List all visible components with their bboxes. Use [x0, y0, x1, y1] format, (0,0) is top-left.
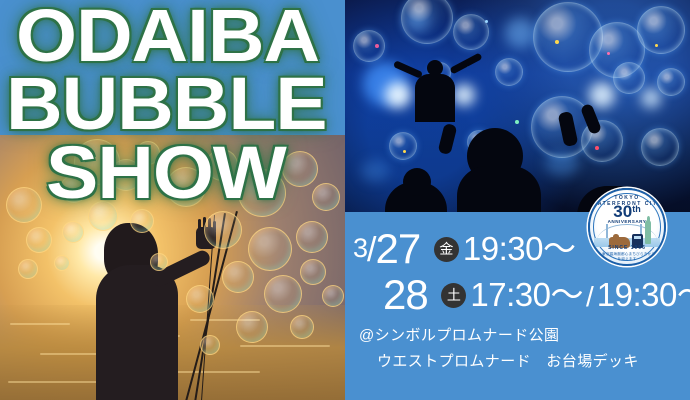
dayofweek-badge-1: 金 [434, 237, 459, 262]
venue-line-2: ウエストプロムナード お台場デッキ [359, 350, 639, 371]
dayofweek-badge-2: 土 [441, 283, 466, 308]
badge-jp-text: 令和・東京臨海副都心まちびらきから30年を迎えます [590, 252, 664, 262]
schedule-row-2: 28 土17:30〜/19:30〜 [353, 268, 690, 319]
month-1: 3 [353, 233, 367, 263]
night-bubble-show-photo [345, 0, 690, 212]
poster-root: ODAIBA BUBBLE SHOW 3/27 金19:30〜 28 土17:3… [0, 0, 690, 400]
badge-number: 30th [590, 203, 664, 220]
bridge-pylon-left [606, 224, 608, 238]
anniversary-badge-icon: TOKYO WATERFRONT CITY 30th ANNIVERSARY S… [588, 188, 666, 266]
time-2-2: 19:30〜 [597, 276, 690, 313]
title-line-1: ODAIBA [16, 6, 319, 67]
badge-since-text: SINCE 1996 [590, 245, 664, 251]
day-1: 27 [375, 225, 420, 272]
day-2: 28 [383, 271, 428, 318]
title-line-2: BUBBLE [6, 74, 326, 135]
time-separator: / [583, 281, 597, 312]
sunset-bubbles-photo [0, 135, 345, 400]
schedule-row-1: 3/27 金19:30〜 [353, 222, 575, 273]
venue-line-1: @シンボルプロムナード公園 [359, 324, 559, 345]
time-1-1: 19:30〜 [463, 230, 576, 267]
badge-anniversary-text: ANNIVERSARY [590, 219, 664, 224]
date-1: 3/27 [353, 225, 431, 272]
time-2-1: 17:30〜 [470, 276, 583, 313]
date-2: 28 [353, 271, 438, 318]
